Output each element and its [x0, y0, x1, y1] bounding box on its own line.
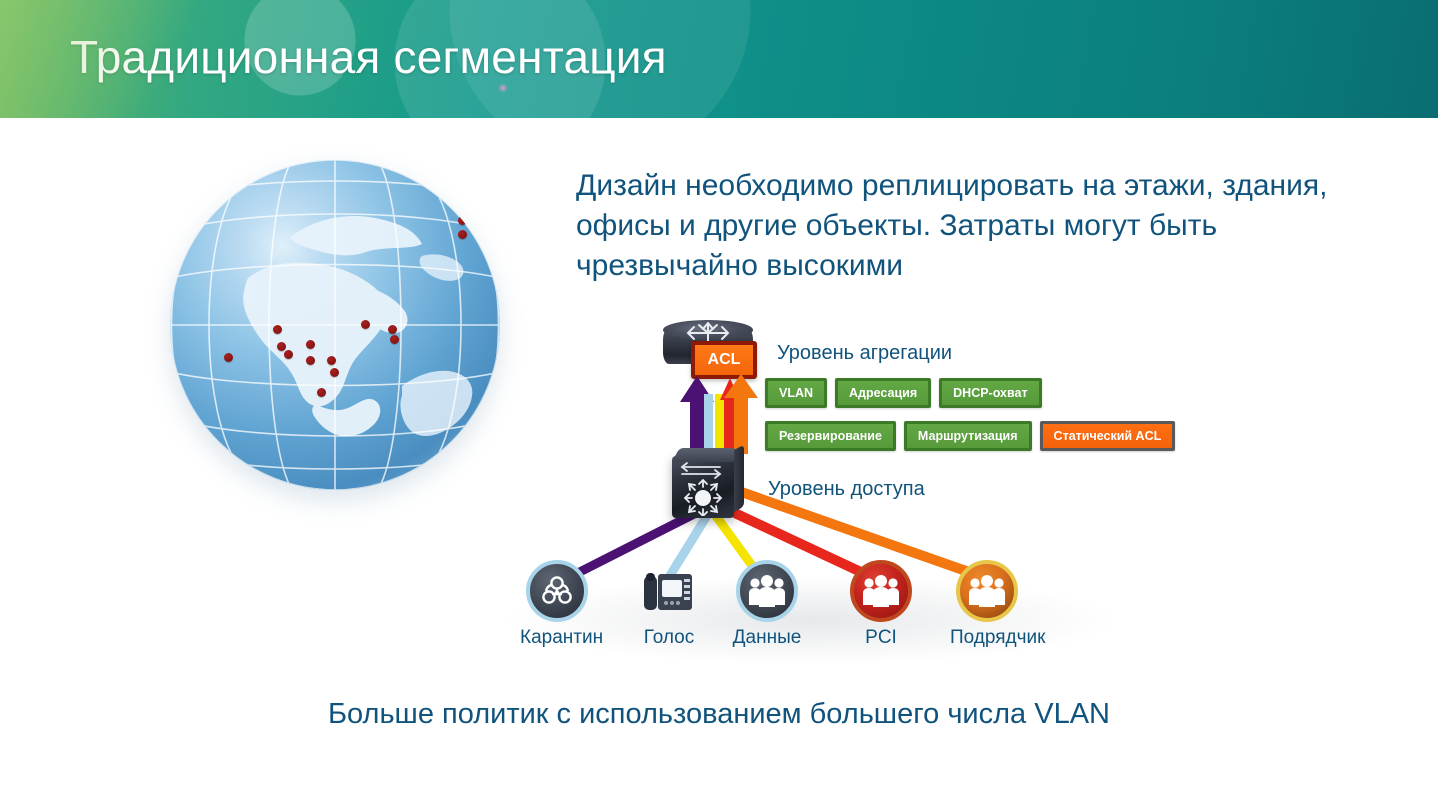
globe-site-dot [388, 325, 397, 334]
ip-phone-icon [638, 560, 700, 622]
capability-chip[interactable]: Адресация [835, 378, 931, 408]
capability-chip[interactable]: DHCP-охват [939, 378, 1041, 408]
uplink-bar-lightblue [704, 394, 713, 454]
contractor-badge [956, 560, 1018, 622]
globe-site-dot [306, 356, 315, 365]
globe-site-dot [284, 350, 293, 359]
access-layer-label: Уровень доступа [768, 478, 925, 501]
globe-site-dot [458, 230, 467, 239]
globe-site-dot [277, 342, 286, 351]
quarantine-badge [526, 560, 588, 622]
endpoint-voice[interactable]: Голос [632, 560, 706, 649]
globe-graticule-and-landmass [170, 160, 500, 490]
aggregation-layer-label: Уровень агрегации [777, 342, 952, 365]
endpoint-quarantine[interactable]: Карантин [520, 560, 594, 649]
globe-site-dot [306, 340, 315, 349]
footer-caption: Больше политик с использованием большего… [0, 698, 1438, 731]
globe-site-dot [390, 335, 399, 344]
globe-site-dot [361, 320, 370, 329]
globe-illustration [160, 155, 510, 510]
page-title: Традиционная сегментация [70, 30, 667, 84]
lead-paragraph: Дизайн необходимо реплицировать на этажи… [576, 166, 1366, 286]
endpoint-contractor[interactable]: Подрядчик [950, 560, 1024, 649]
voice-badge [638, 560, 700, 622]
switch-icons [676, 458, 730, 516]
capability-chip[interactable]: Статический ACL [1040, 421, 1176, 451]
biohazard-icon [538, 572, 576, 610]
users-icon [747, 574, 787, 608]
users-icon [967, 574, 1007, 608]
pci-badge [850, 560, 912, 622]
endpoint-data[interactable]: Данные [730, 560, 804, 649]
endpoint-label: Голос [632, 627, 706, 649]
world-globe [170, 160, 500, 490]
uplink-bar-yellow [715, 394, 724, 454]
access-switch[interactable] [672, 448, 744, 524]
segmentation-diagram: ACL Уровень агрегации Уровень доступа VL… [480, 320, 1220, 670]
globe-site-dot [224, 353, 233, 362]
globe-site-dot [327, 356, 336, 365]
globe-site-dot [317, 388, 326, 397]
capability-chip[interactable]: Резервирование [765, 421, 896, 451]
endpoint-pci[interactable]: PCI [844, 560, 918, 649]
data-badge [736, 560, 798, 622]
globe-site-dot [273, 325, 282, 334]
uplink-arrows [678, 368, 758, 454]
globe-site-dot [330, 368, 339, 377]
endpoint-label: Карантин [520, 627, 594, 649]
globe-site-dot [458, 216, 467, 225]
header-flare-icon [498, 83, 508, 93]
switch-side-face [734, 445, 744, 512]
users-icon [861, 574, 901, 608]
endpoint-label: Подрядчик [950, 627, 1024, 649]
capability-chip[interactable]: Маршрутизация [904, 421, 1032, 451]
capability-chips-row-1: VLANАдресацияDHCP-охват [765, 378, 1042, 408]
endpoint-label: Данные [730, 627, 804, 649]
slide-header: Традиционная сегментация [0, 0, 1438, 118]
capability-chip[interactable]: VLAN [765, 378, 827, 408]
capability-chips-row-2: РезервированиеМаршрутизацияСтатический A… [765, 421, 1175, 451]
endpoint-label: PCI [844, 627, 918, 649]
